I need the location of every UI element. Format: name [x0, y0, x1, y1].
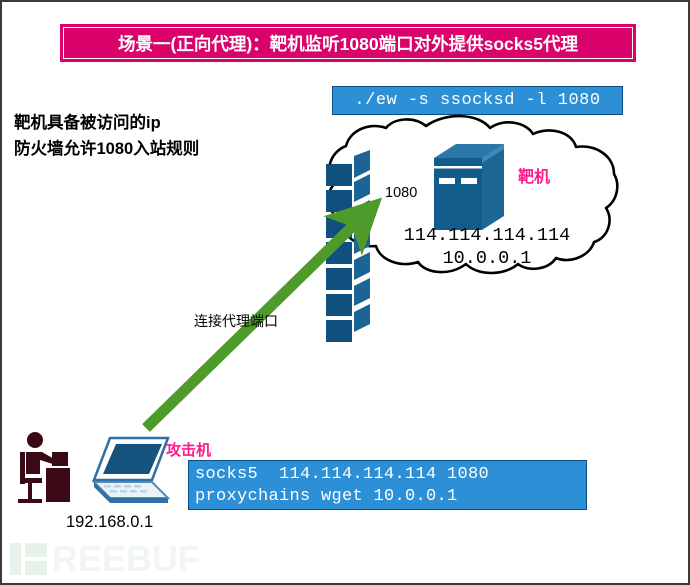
attacker-command-box: socks5 114.114.114.114 1080 proxychains … — [188, 460, 587, 510]
port-label: 1080 — [385, 185, 417, 201]
person-at-desk-icon — [16, 430, 78, 508]
target-command-text: ./ew -s ssocksd -l 1080 — [354, 91, 600, 110]
page-title: 场景一(正向代理)：靶机监听1080端口对外提供socks5代理 — [118, 31, 578, 56]
watermark-text: REEBUF — [52, 542, 200, 576]
attacker-ip: 192.168.0.1 — [66, 513, 153, 532]
arrow-label: 连接代理端口 — [194, 311, 278, 331]
note-line-1: 靶机具备被访问的ip — [14, 110, 294, 136]
target-command-box: ./ew -s ssocksd -l 1080 — [332, 86, 623, 115]
attacker-command-line-1: socks5 114.114.114.114 1080 — [195, 464, 586, 486]
target-private-ip: 10.0.0.1 — [387, 247, 587, 270]
watermark-bar-stack — [25, 543, 47, 575]
freebuf-watermark: REEBUF — [10, 538, 200, 580]
target-public-ip: 114.114.114.114 — [387, 224, 587, 247]
title-banner: 场景一(正向代理)：靶机监听1080端口对外提供socks5代理 — [60, 24, 636, 62]
watermark-bar-left — [10, 543, 21, 575]
target-ip-block: 114.114.114.114 10.0.0.1 — [387, 224, 587, 270]
attacker-machine-label: 攻击机 — [166, 439, 211, 460]
target-machine-label: 靶机 — [518, 163, 550, 187]
notes-block: 靶机具备被访问的ip 防火墙允许1080入站规则 — [14, 110, 294, 162]
laptop-icon — [88, 434, 172, 506]
note-line-2: 防火墙允许1080入站规则 — [14, 136, 294, 162]
attacker-command-line-2: proxychains wget 10.0.0.1 — [195, 486, 586, 508]
diagram-canvas: 场景一(正向代理)：靶机监听1080端口对外提供socks5代理 靶机具备被访问… — [0, 0, 690, 585]
